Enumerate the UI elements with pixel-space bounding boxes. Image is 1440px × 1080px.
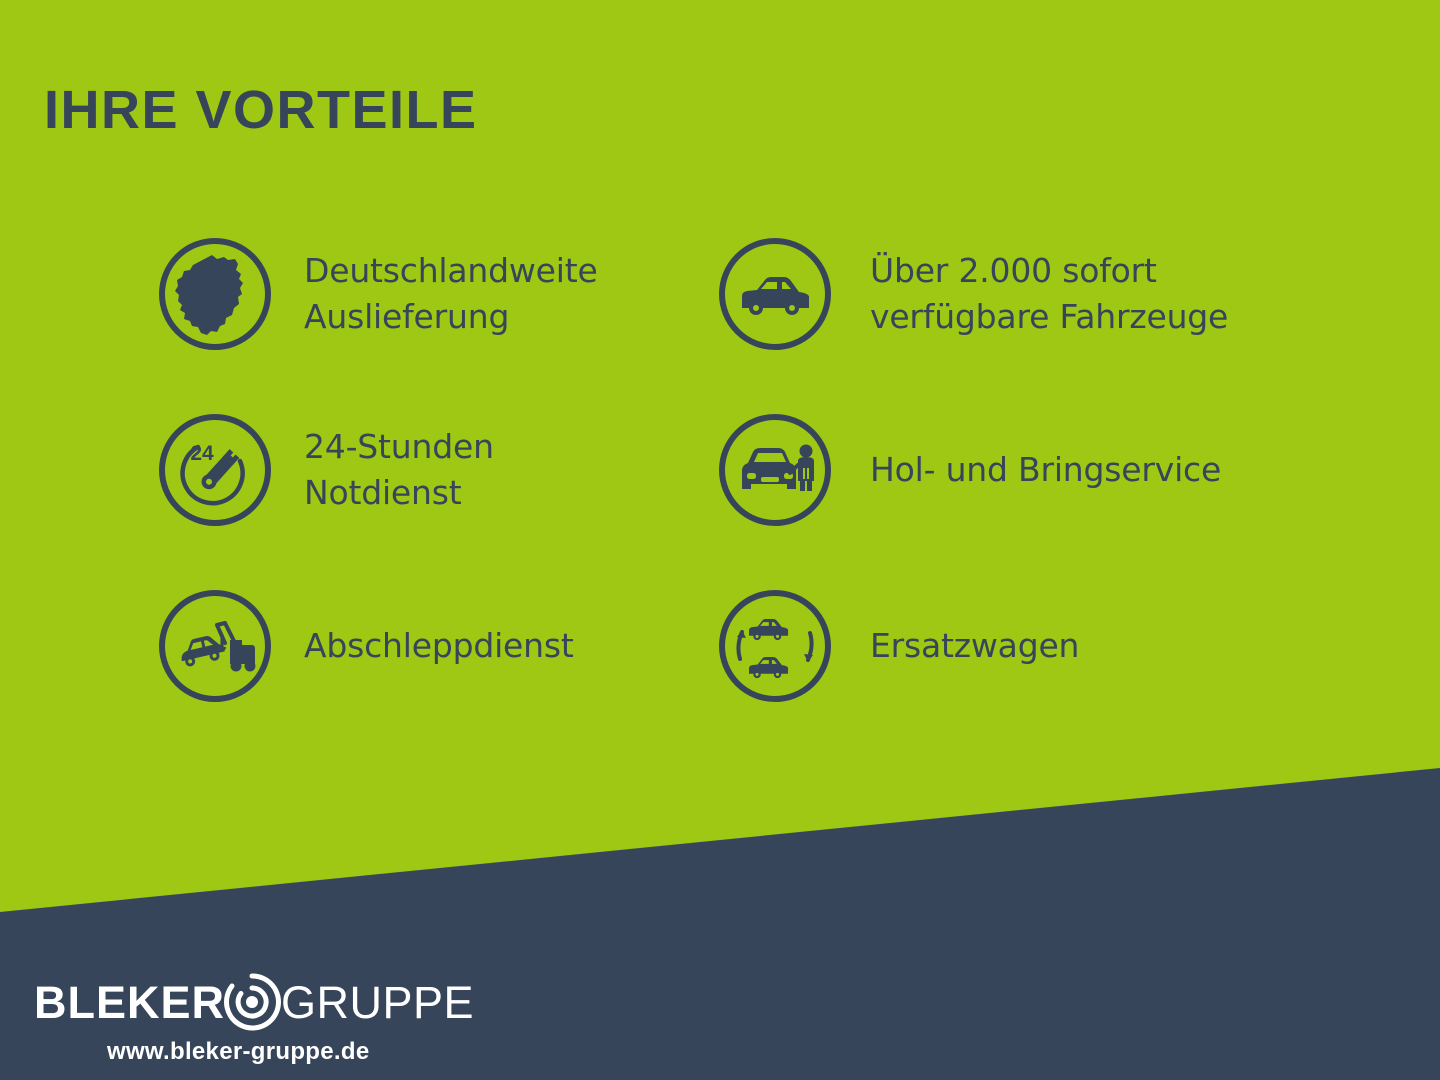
logo-name-light: GRUPPE <box>281 980 474 1025</box>
company-logo[interactable]: BLEKER GRUPPE www.bleker-gruppe.de <box>34 972 454 1066</box>
benefit-item: Ersatzwagen <box>716 576 1079 716</box>
logo-name-bold: BLEKER <box>34 980 225 1025</box>
tow-truck-icon <box>156 587 274 705</box>
benefit-item: Deutschlandweite Auslieferung <box>156 224 598 364</box>
page-title: IHRE VORTEILE <box>44 83 478 137</box>
benefit-label: Ersatzwagen <box>870 623 1079 669</box>
benefit-label: Deutschlandweite Auslieferung <box>304 248 598 339</box>
benefit-label: Über 2.000 sofort verfügbare Fahrzeuge <box>870 248 1228 339</box>
car-exchange-icon <box>716 587 834 705</box>
benefit-item: 24 24-Stunden Notdienst <box>156 400 494 540</box>
green-background-panel <box>0 0 1440 1080</box>
benefit-label: Abschleppdienst <box>304 623 574 669</box>
benefit-item: Abschleppdienst <box>156 576 574 716</box>
benefit-label: 24-Stunden Notdienst <box>304 424 494 515</box>
car-with-driver-icon <box>716 411 834 529</box>
germany-map-icon <box>156 235 274 353</box>
logo-website-url[interactable]: www.bleker-gruppe.de <box>107 1038 454 1066</box>
icon-text-24: 24 <box>190 442 214 465</box>
24-hour-wrench-icon: 24 <box>156 411 274 529</box>
logo-wordmark-row: BLEKER GRUPPE <box>34 972 454 1032</box>
benefit-item: Hol- und Bringservice <box>716 400 1221 540</box>
benefit-label: Hol- und Bringservice <box>870 447 1221 493</box>
slide-canvas: IHRE VORTEILE Deutschlandweite Ausliefer… <box>0 0 1440 1080</box>
car-side-icon <box>716 235 834 353</box>
benefit-item: Über 2.000 sofort verfügbare Fahrzeuge <box>716 224 1228 364</box>
spiral-circle-logo-icon <box>221 971 283 1033</box>
